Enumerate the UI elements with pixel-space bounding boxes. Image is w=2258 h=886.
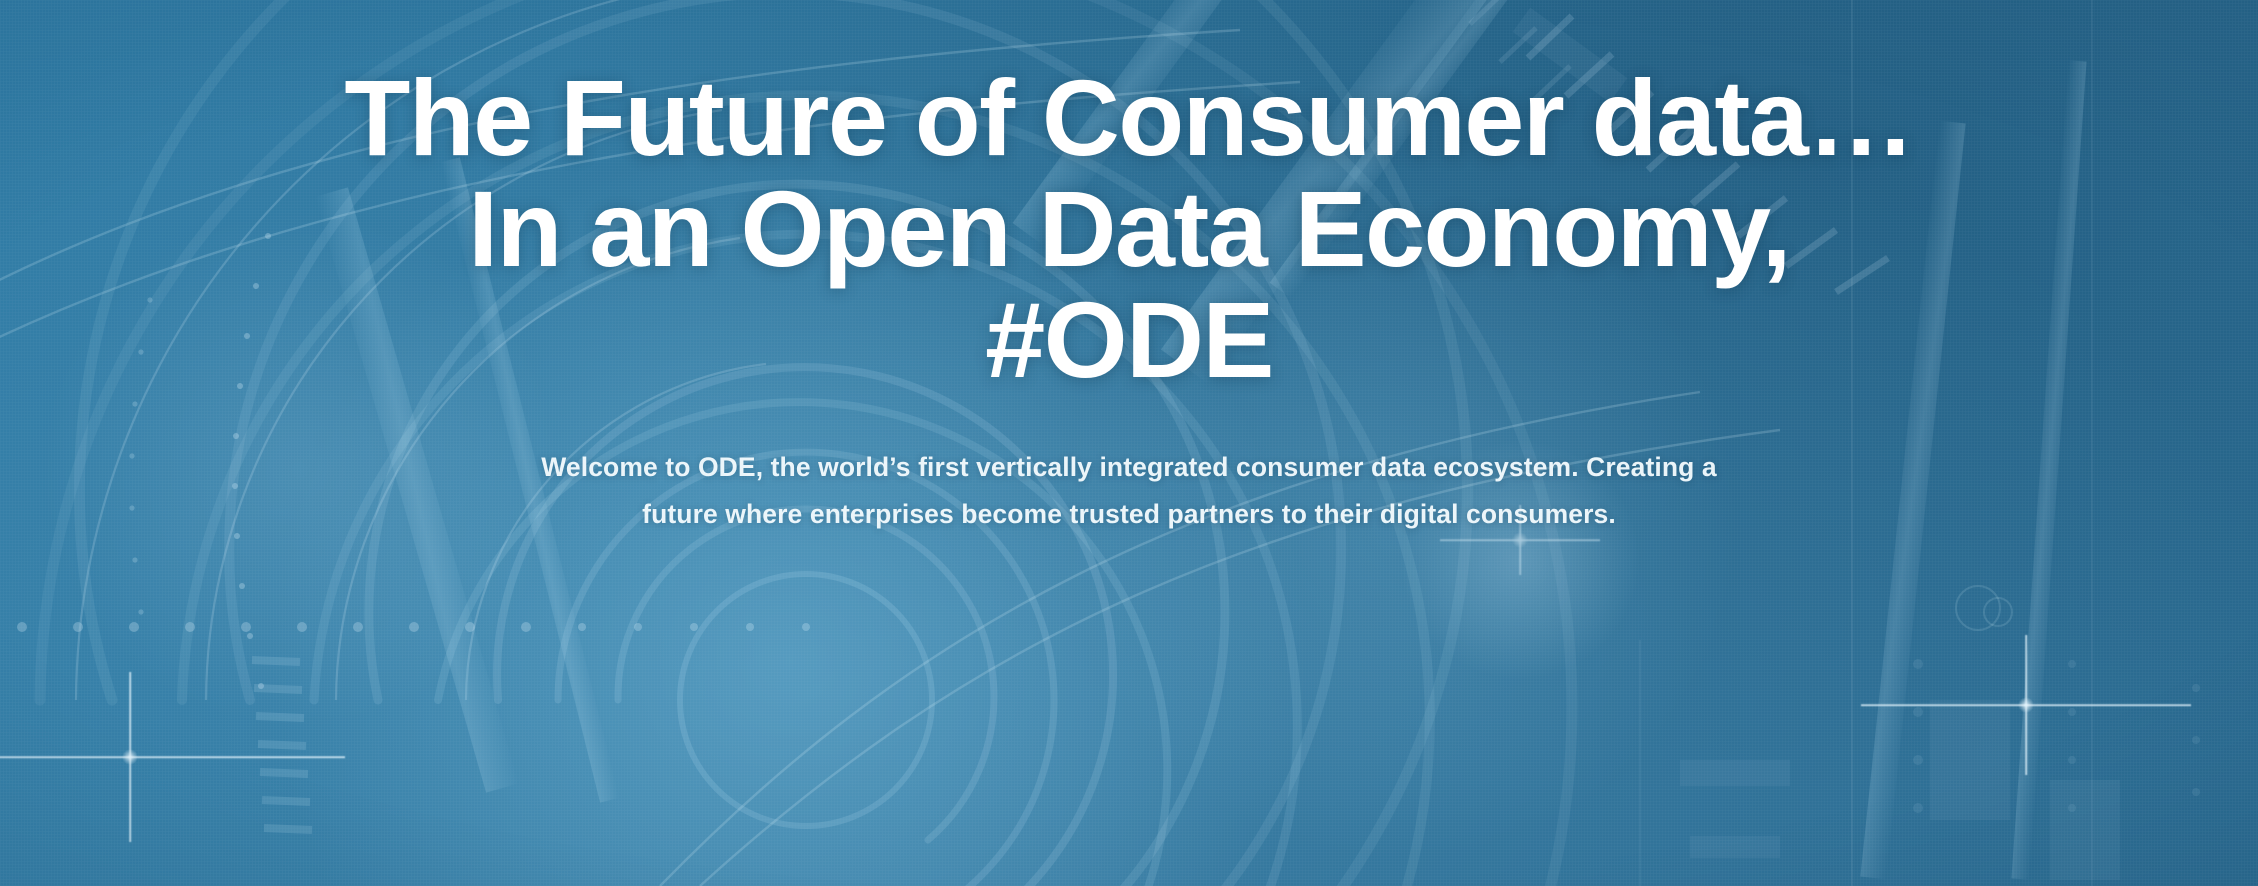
hero-banner: The Future of Consumer data… In an Open … bbox=[0, 0, 2258, 886]
hero-headline-line-3: #ODE bbox=[39, 284, 2219, 395]
hero-subcopy-line-1: Welcome to ODE, the world’s first vertic… bbox=[541, 452, 1578, 482]
hero-headline: The Future of Consumer data… In an Open … bbox=[39, 62, 2219, 396]
hero-subcopy: Welcome to ODE, the world’s first vertic… bbox=[539, 444, 1719, 538]
hero-subcopy-line-3: consumers. bbox=[1466, 499, 1616, 529]
hero-headline-line-1: The Future of Consumer data… bbox=[39, 62, 2219, 173]
hero-headline-line-2: In an Open Data Economy, bbox=[39, 173, 2219, 284]
hero-content: The Future of Consumer data… In an Open … bbox=[0, 0, 2258, 886]
